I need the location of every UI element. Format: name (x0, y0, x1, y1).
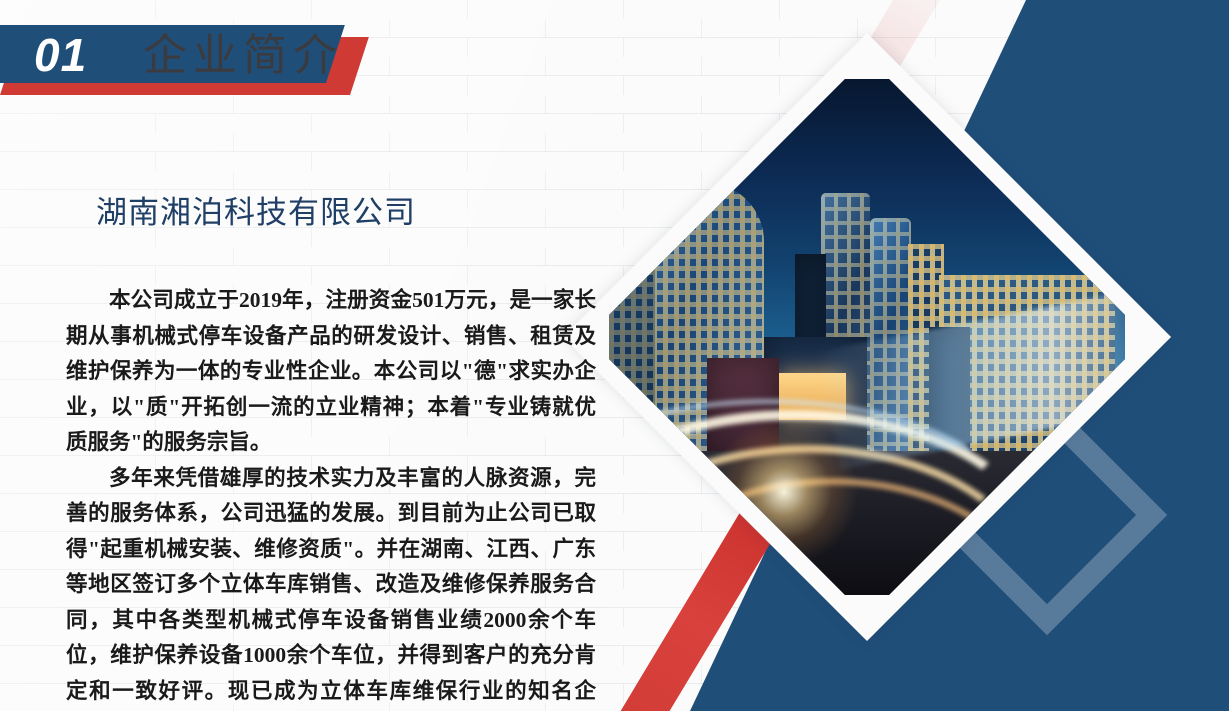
section-number-text: 01 (34, 28, 87, 83)
slide-canvas: 01 企业简介 湖南湘泊科技有限公司 本公司成立于2019年，注册资金501万元… (0, 0, 1229, 711)
page-title: 企业简介 (143, 30, 343, 82)
company-name-heading: 湖南湘泊科技有限公司 (96, 192, 416, 234)
profile-paragraph-1: 本公司成立于2019年，注册资金501万元，是一家长期从事机械式停车设备产品的研… (66, 283, 596, 461)
company-profile-text: 本公司成立于2019年，注册资金501万元，是一家长期从事机械式停车设备产品的研… (66, 283, 596, 711)
profile-paragraph-2: 多年来凭借雄厚的技术实力及丰富的人脉资源，完善的服务体系，公司迅猛的发展。到目前… (66, 461, 596, 711)
